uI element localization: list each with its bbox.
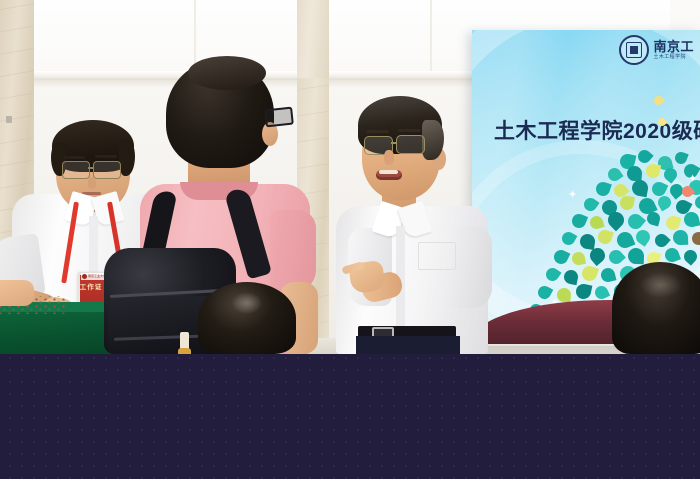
logo-text-block: 南京工 土木工程学院 [653, 40, 694, 60]
heart-leaf [581, 195, 599, 213]
heart-leaf [631, 179, 650, 198]
heart-leaf [673, 150, 688, 165]
heart-leaf [673, 230, 689, 246]
right-man-shirt-pocket [418, 242, 456, 270]
right-man-nose [384, 150, 394, 165]
heart-leaf [691, 231, 700, 247]
heart-leaf [652, 231, 670, 249]
heart-leaf [605, 165, 623, 183]
foreground-head-center-crown [232, 292, 262, 314]
left-man-nose [88, 177, 96, 189]
heart-leaf [645, 163, 661, 179]
right-man-glasses-lens [396, 135, 425, 154]
heart-leaf [695, 196, 700, 209]
right-man-eyebrow [366, 130, 389, 133]
left-man-glasses-bridge [88, 167, 93, 169]
heart-leaf [663, 246, 681, 264]
heart-leaf [588, 214, 604, 230]
heart-leaf [579, 233, 596, 250]
person-right-speaking-man [326, 96, 496, 354]
right-man-trousers [356, 336, 460, 354]
left-man-glasses-lens [93, 161, 121, 179]
id-badge-label: 工作证 [78, 284, 104, 292]
backpack-tag-accent [178, 348, 191, 354]
right-man-eyebrow [398, 129, 421, 132]
heart-leaf [563, 269, 580, 286]
left-man-eyebrow [63, 156, 85, 159]
seal-emblem-icon [619, 35, 649, 65]
id-badge-seal-icon [82, 274, 87, 279]
heart-leaf [615, 230, 636, 251]
id-badge-clip [6, 116, 12, 123]
heart-leaf [628, 248, 645, 265]
heart-leaf [596, 228, 614, 246]
heart-leaf [633, 227, 652, 246]
student-hair-tuft [188, 56, 266, 90]
heart-leaf [683, 211, 700, 229]
heart-leaf [594, 180, 612, 198]
heart-leaf [552, 248, 571, 267]
student-glasses [264, 107, 294, 128]
foreground-head-right-highlight [640, 272, 682, 298]
heart-leaf [681, 247, 699, 265]
university-logo: 南京工 土木工程学院 [619, 35, 694, 65]
heart-leaf [570, 212, 588, 230]
heart-leaf [646, 211, 662, 227]
left-man-glasses-lens [62, 161, 90, 179]
bystander-arm [0, 280, 34, 306]
screenshot-root: 南京工 土木工程学院 土木工程学院2020级硕 ✦✦✦✦ [0, 0, 700, 479]
right-man-glasses-bridge [391, 142, 396, 144]
heart-leaf [665, 215, 682, 232]
heart-leaf [543, 265, 561, 283]
photograph: 南京工 土木工程学院 土木工程学院2020级硕 ✦✦✦✦ [0, 0, 700, 354]
right-man-teeth [379, 170, 398, 174]
heart-leaf [593, 284, 610, 301]
banner-title: 土木工程学院2020级硕 [494, 115, 700, 145]
heart-leaf [619, 195, 635, 211]
sparkle-icon: ✦ [688, 174, 697, 185]
wall-panel-seam [430, 0, 432, 72]
student-sleeve [270, 210, 316, 292]
sparkle-icon: ✦ [568, 190, 577, 201]
heart-leaf [560, 230, 578, 248]
heart-leaf [600, 267, 617, 284]
heart-leaf [580, 264, 599, 283]
left-man-eyebrow [95, 155, 117, 158]
heart-leaf [575, 283, 593, 301]
heart-leaf [606, 247, 626, 267]
heart-leaf [571, 251, 586, 266]
university-name: 南京工 [653, 40, 694, 53]
college-name: 土木工程学院 [653, 55, 694, 60]
